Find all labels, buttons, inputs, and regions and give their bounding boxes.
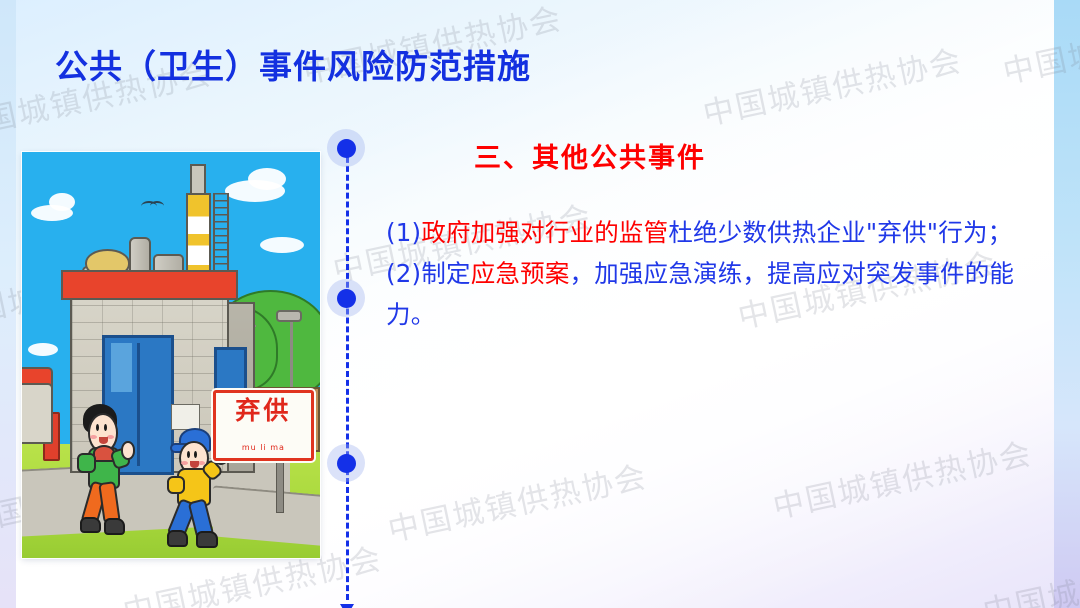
shoe-shape <box>80 517 101 533</box>
eye-shape <box>104 424 107 431</box>
door-plaque <box>171 404 200 430</box>
bird-icon <box>141 201 157 212</box>
timeline-arrow-icon <box>340 604 354 608</box>
mouth-shape <box>190 461 199 468</box>
highlight-phrase-1: 政府加强对行业的监管 <box>421 218 668 247</box>
list-number-2: (2) <box>386 259 421 288</box>
body-paragraph: (1)政府加强对行业的监管杜绝少数供热企业"弃供"行为； (2)制定应急预案，加… <box>386 212 1046 335</box>
mouth-shape <box>99 437 108 444</box>
door-highlight <box>111 343 132 392</box>
arm-shape <box>167 476 185 494</box>
section-heading: 三、其他公共事件 <box>474 136 706 175</box>
body-pre-2: 制定 <box>421 259 470 288</box>
shed-shape <box>22 383 53 444</box>
list-number-1: (1) <box>386 218 421 247</box>
right-edge-band <box>1054 0 1080 608</box>
illustration-figure: 弃供 mu li ma <box>22 152 320 558</box>
timeline-dashed-line <box>346 148 349 600</box>
cloud-icon <box>28 343 58 356</box>
timeline-dot-2[interactable] <box>327 279 365 317</box>
watermark-text: 中国城镇供热协会 <box>698 35 966 134</box>
timeline-dot-1[interactable] <box>327 129 365 167</box>
cheek-blush <box>181 461 188 465</box>
building-roof <box>61 270 238 300</box>
sign-main-text: 弃供 <box>216 398 311 423</box>
warning-sign-board: 弃供 mu li ma <box>213 390 314 461</box>
slide-canvas: 中国城镇供热协会 中国城镇供热协会 中国城镇供热协会 中国城镇供热协会 中国城镇… <box>0 0 1080 608</box>
eye-shape <box>96 424 99 431</box>
hand-shape <box>121 441 136 460</box>
body-rest-1: 杜绝少数供热企业"弃供"行为； <box>668 218 1012 247</box>
shoe-shape <box>104 518 125 534</box>
watermark-text: 中国城镇供热协会 <box>768 428 1036 527</box>
eye-shape <box>187 451 190 458</box>
body-line-1: (1)政府加强对行业的监管杜绝少数供热企业"弃供"行为； <box>386 212 1046 253</box>
cloud-icon <box>49 193 75 211</box>
street-lamp-head <box>276 310 302 322</box>
arm-shape <box>77 453 96 472</box>
shoe-shape <box>167 530 189 547</box>
highlight-phrase-2: 应急预案 <box>471 259 570 288</box>
shoe-shape <box>196 531 218 548</box>
body-line-2: (2)制定应急预案，加强应急演练，提高应对突发事件的能力。 <box>386 253 1046 335</box>
timeline-rail <box>346 140 348 608</box>
left-edge-band <box>0 0 16 608</box>
page-title: 公共（卫生）事件风险防范措施 <box>55 40 531 88</box>
illustration-canvas: 弃供 mu li ma <box>22 152 320 558</box>
sign-sub-text: mu li ma <box>216 443 311 452</box>
watermark-text: 中国城镇供热协会 <box>383 451 651 550</box>
child-figure-green <box>76 404 153 542</box>
timeline-dot-3[interactable] <box>327 444 365 482</box>
